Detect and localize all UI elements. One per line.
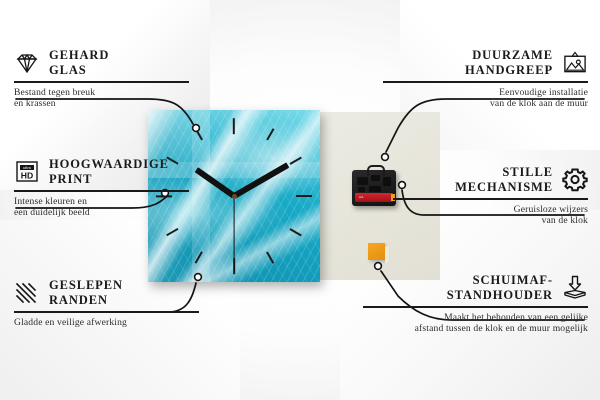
battery-label: AA <box>359 195 363 199</box>
movement-slot-b <box>371 175 380 181</box>
gear-icon <box>562 168 588 192</box>
clock-movement-photo: AA <box>352 170 396 206</box>
clock-tick <box>233 118 235 134</box>
foam-spacer-icon <box>562 276 588 300</box>
feature-divider <box>363 306 588 308</box>
feature-title: GESLEPEN RANDEN <box>49 278 123 307</box>
movement-slot-a <box>357 177 368 185</box>
feature-description: Intense kleuren en een duidelijk beeld <box>14 196 189 219</box>
feature-divider <box>383 81 588 83</box>
feature-title: DUURZAME HANDGREEP <box>465 48 553 77</box>
feature-divider <box>14 311 199 313</box>
movement-slot-e <box>369 186 381 192</box>
feature-description: Gladde en veilige afwerking <box>14 317 199 328</box>
feature-divider <box>14 81 189 83</box>
ultra-hd-icon: ultra HD <box>14 160 40 184</box>
feature-geslepen-randen: GESLEPEN RANDEN Gladde en veilige afwerk… <box>14 278 199 328</box>
clock-center-pin <box>232 194 237 199</box>
feature-divider <box>14 190 189 192</box>
feature-duurzame-handgreep: DUURZAME HANDGREEP Eenvoudige installati… <box>383 48 588 109</box>
feature-hoogwaardige-print: ultra HD HOOGWAARDIGE PRINT Intense kleu… <box>14 157 189 218</box>
svg-text:ultra: ultra <box>23 165 32 170</box>
framed-picture-icon <box>562 51 588 75</box>
feature-title: STILLE MECHANISME <box>455 165 553 194</box>
infographic-canvas: AA <box>0 0 600 400</box>
clock-hand-second <box>233 196 234 270</box>
feature-schuimafstandhouder: SCHUIMAF- STANDHOUDER Maakt het behouden… <box>363 273 588 334</box>
foam-spacer-side <box>385 245 389 264</box>
clock-tick <box>296 195 312 197</box>
movement-slot-d <box>358 187 365 192</box>
diamond-icon <box>14 51 40 75</box>
feature-description: Geruisloze wijzers van de klok <box>393 204 588 227</box>
feature-title: HOOGWAARDIGE PRINT <box>49 157 169 186</box>
feature-divider <box>393 198 588 200</box>
svg-text:HD: HD <box>21 171 33 181</box>
beveled-edges-icon <box>14 281 40 305</box>
feature-description: Bestand tegen breuk en krassen <box>14 87 189 110</box>
feature-title: SCHUIMAF- STANDHOUDER <box>447 273 553 302</box>
feature-description: Eenvoudige installatie van de klok aan d… <box>383 87 588 110</box>
feature-description: Maakt het behouden van een gelijke afsta… <box>363 312 588 335</box>
feature-gehard-glas: GEHARD GLAS Bestand tegen breuk en krass… <box>14 48 189 109</box>
feature-title: GEHARD GLAS <box>49 48 109 77</box>
movement-slot-c <box>383 177 391 186</box>
foam-spacer-photo <box>368 243 385 260</box>
feature-stille-mechanisme: STILLE MECHANISME Geruisloze wijzers van… <box>393 165 588 226</box>
battery: AA <box>355 193 393 202</box>
